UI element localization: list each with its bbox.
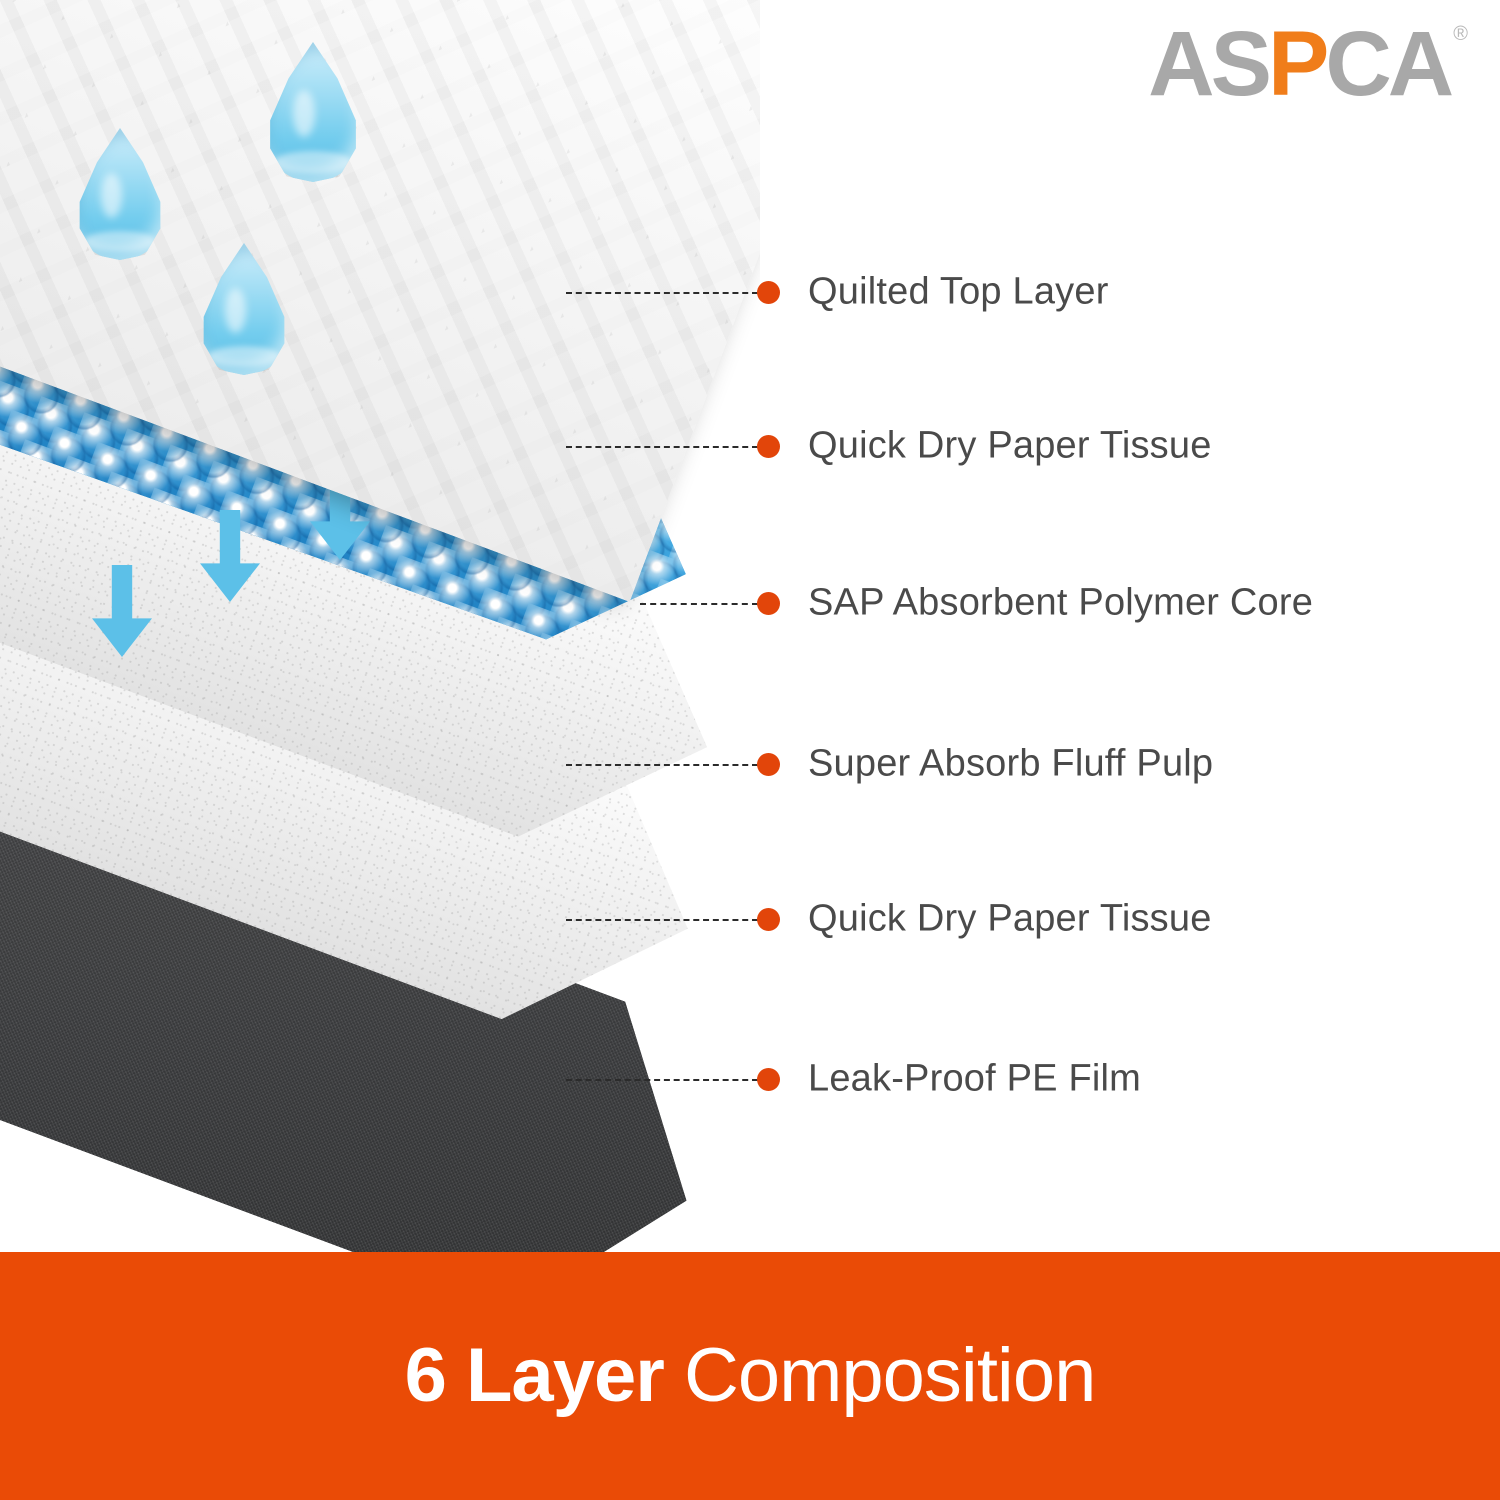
callout-leader-line bbox=[566, 1079, 758, 1081]
banner-title-light: Composition bbox=[684, 1333, 1095, 1418]
layer-label: Super Absorb Fluff Pulp bbox=[808, 743, 1213, 786]
aspca-logo: AS P CA ® bbox=[1148, 18, 1468, 110]
banner-title: 6 Layer Composition bbox=[0, 1338, 1500, 1414]
callout-leader-line bbox=[566, 919, 758, 921]
product-infographic: AS P CA ® bbox=[0, 0, 1500, 1500]
registered-trademark-icon: ® bbox=[1453, 24, 1468, 44]
layer-label: SAP Absorbent Polymer Core bbox=[808, 582, 1313, 625]
callout-dot-icon bbox=[757, 592, 780, 615]
callout-leader-line bbox=[566, 764, 758, 766]
layer-stack-illustration bbox=[0, 0, 760, 1255]
bottom-banner: 6 Layer Composition bbox=[0, 1252, 1500, 1500]
callout-dot-icon bbox=[757, 435, 780, 458]
logo-text-ca: CA bbox=[1325, 18, 1450, 110]
layer-label: Leak-Proof PE Film bbox=[808, 1058, 1141, 1101]
logo-text-p: P bbox=[1268, 18, 1325, 110]
callout-leader-line bbox=[566, 292, 758, 294]
callout-dot-icon bbox=[757, 753, 780, 776]
callout-dot-icon bbox=[757, 1068, 780, 1091]
callout-leader-line bbox=[566, 446, 758, 448]
logo-text-as: AS bbox=[1148, 18, 1268, 110]
callout-leader-line bbox=[640, 603, 758, 605]
callout-dot-icon bbox=[757, 281, 780, 304]
banner-title-strong: 6 Layer bbox=[405, 1333, 684, 1418]
callout-dot-icon bbox=[757, 908, 780, 931]
layer-label: Quick Dry Paper Tissue bbox=[808, 425, 1212, 468]
layer-label: Quilted Top Layer bbox=[808, 271, 1109, 314]
layer-label: Quick Dry Paper Tissue bbox=[808, 898, 1212, 941]
